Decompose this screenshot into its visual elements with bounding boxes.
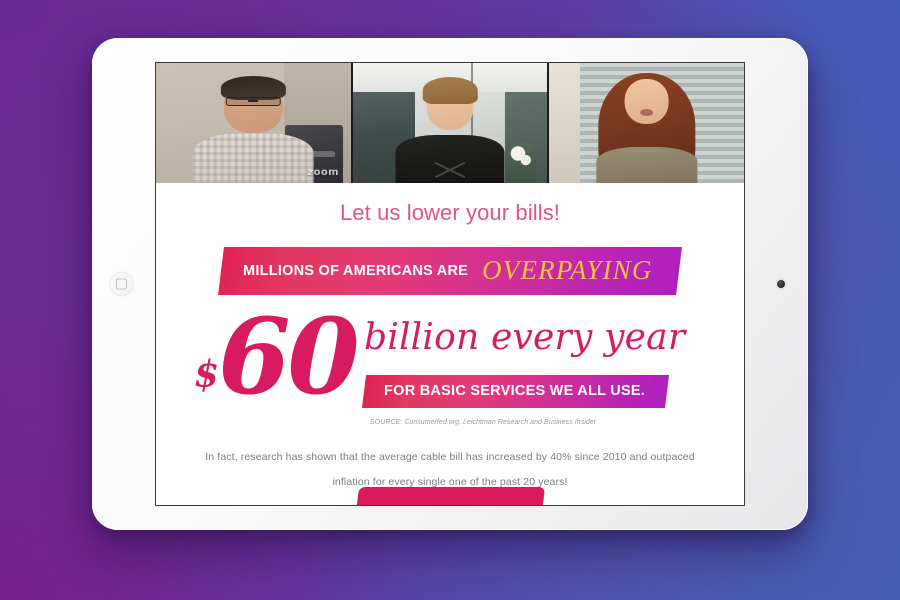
amount-currency-symbol: $ bbox=[194, 354, 218, 396]
front-camera-icon bbox=[777, 280, 785, 288]
video-tile-participant-2[interactable] bbox=[353, 63, 548, 183]
video-tile-participant-1[interactable]: zoom bbox=[156, 63, 351, 183]
tile2-hair bbox=[423, 77, 478, 103]
zoom-watermark: zoom bbox=[307, 167, 339, 178]
tile3-head bbox=[624, 79, 669, 125]
amount-unit-phrase: billion every year bbox=[364, 317, 685, 358]
tablet-screen: zoom bbox=[155, 62, 745, 506]
video-tile-participant-3[interactable] bbox=[549, 63, 744, 183]
banner-basic-services-text: FOR BASIC SERVICES WE ALL USE. bbox=[384, 383, 645, 399]
banner-basic-services: FOR BASIC SERVICES WE ALL USE. bbox=[362, 375, 669, 408]
home-button[interactable] bbox=[109, 272, 134, 297]
cta-button[interactable] bbox=[355, 487, 545, 506]
amount-figure: $60 bbox=[194, 295, 357, 418]
tile2-flowers bbox=[506, 142, 535, 183]
source-citation: SOURCE: Consumerfed.org, Leichtman Resea… bbox=[370, 419, 596, 426]
tile3-top bbox=[596, 147, 697, 183]
tile2-black-top bbox=[395, 135, 504, 183]
video-call-gallery: zoom bbox=[156, 63, 744, 183]
tile3-mouth bbox=[640, 109, 654, 116]
banner-overpaying-emphasis: OVERPAYING bbox=[482, 255, 653, 286]
tile1-glasses-bridge bbox=[248, 100, 258, 102]
banner-overpaying-prefix: MILLIONS OF AMERICANS ARE bbox=[243, 263, 468, 279]
home-button-square-icon bbox=[116, 279, 127, 290]
amount-value: 60 bbox=[218, 295, 357, 418]
landing-page-content: Let us lower your bills! MILLIONS OF AME… bbox=[156, 183, 744, 506]
banner-overpaying: MILLIONS OF AMERICANS AREOVERPAYING bbox=[218, 247, 682, 295]
tablet-device: zoom bbox=[92, 38, 808, 530]
tile3-wall bbox=[549, 63, 582, 183]
page-headline: Let us lower your bills! bbox=[156, 201, 744, 225]
figure-row: $60 billion every year FOR BASIC SERVICE… bbox=[156, 301, 744, 427]
tile1-plaid-shirt bbox=[193, 133, 314, 183]
